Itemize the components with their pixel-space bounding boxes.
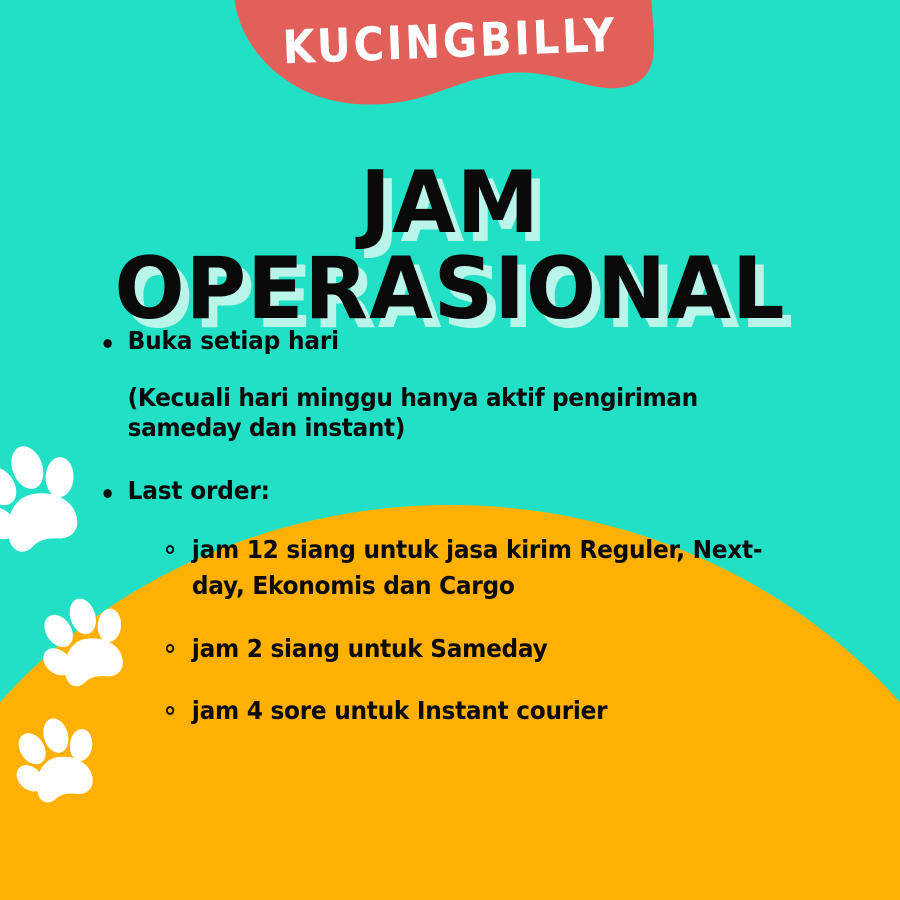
bullet-dot-icon	[103, 339, 111, 348]
list-item-label: jam 4 sore untuk Instant courier	[192, 696, 607, 725]
list-item-note: (Kecuali hari minggu hanya aktif pengiri…	[96, 383, 803, 444]
list-item: jam 4 sore untuk Instant courier	[164, 693, 808, 729]
list-item-label: Last order:	[128, 476, 270, 505]
poster-canvas: KUCINGBILLY JAM OPERASIONAL Buka setiap …	[0, 0, 900, 900]
page-title: JAM OPERASIONAL	[18, 160, 882, 332]
paw-print-icon	[0, 708, 111, 819]
list-item: Last order:	[96, 476, 803, 507]
bullet-ring-icon	[166, 545, 174, 554]
list-item: Buka setiap hari	[96, 326, 803, 357]
bullet-ring-icon	[166, 644, 174, 653]
bullet-dot-icon	[103, 489, 111, 498]
list-item: jam 2 siang untuk Sameday	[164, 631, 808, 667]
content-list: Buka setiap hari (Kecuali hari minggu ha…	[96, 326, 856, 729]
bullet-ring-icon	[166, 706, 174, 715]
list-item-label: jam 12 siang untuk jasa kirim Reguler, N…	[192, 535, 762, 600]
list-item: jam 12 siang untuk jasa kirim Reguler, N…	[164, 532, 808, 605]
sub-list: jam 12 siang untuk jasa kirim Reguler, N…	[96, 532, 856, 729]
list-item-label: jam 2 siang untuk Sameday	[192, 634, 548, 663]
list-item-label: Buka setiap hari	[128, 326, 339, 355]
